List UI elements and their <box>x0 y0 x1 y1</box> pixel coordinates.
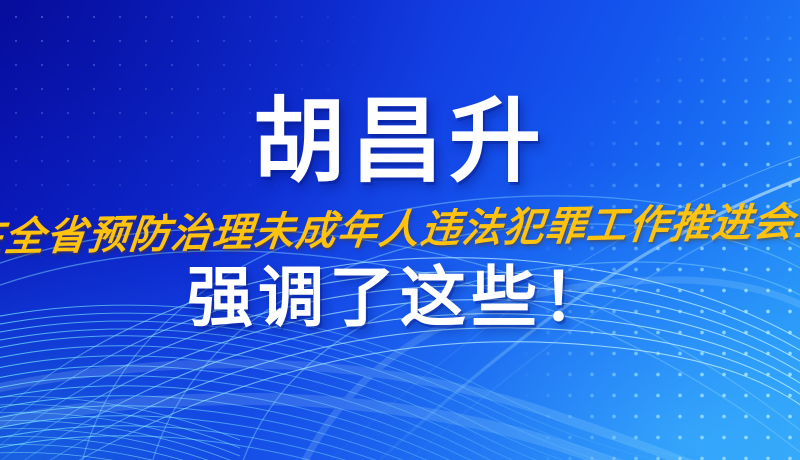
banner-content: 胡昌升 在全省预防治理未成年人违法犯罪工作推进会上 强调了这些！ <box>0 0 800 460</box>
promo-banner: 胡昌升 在全省预防治理未成年人违法犯罪工作推进会上 强调了这些！ <box>0 0 800 460</box>
page-title: 胡昌升 <box>253 96 547 188</box>
calligraphy-subtitle: 在全省预防治理未成年人违法犯罪工作推进会上 <box>0 202 800 259</box>
headline-bottom: 强调了这些！ <box>187 264 613 330</box>
